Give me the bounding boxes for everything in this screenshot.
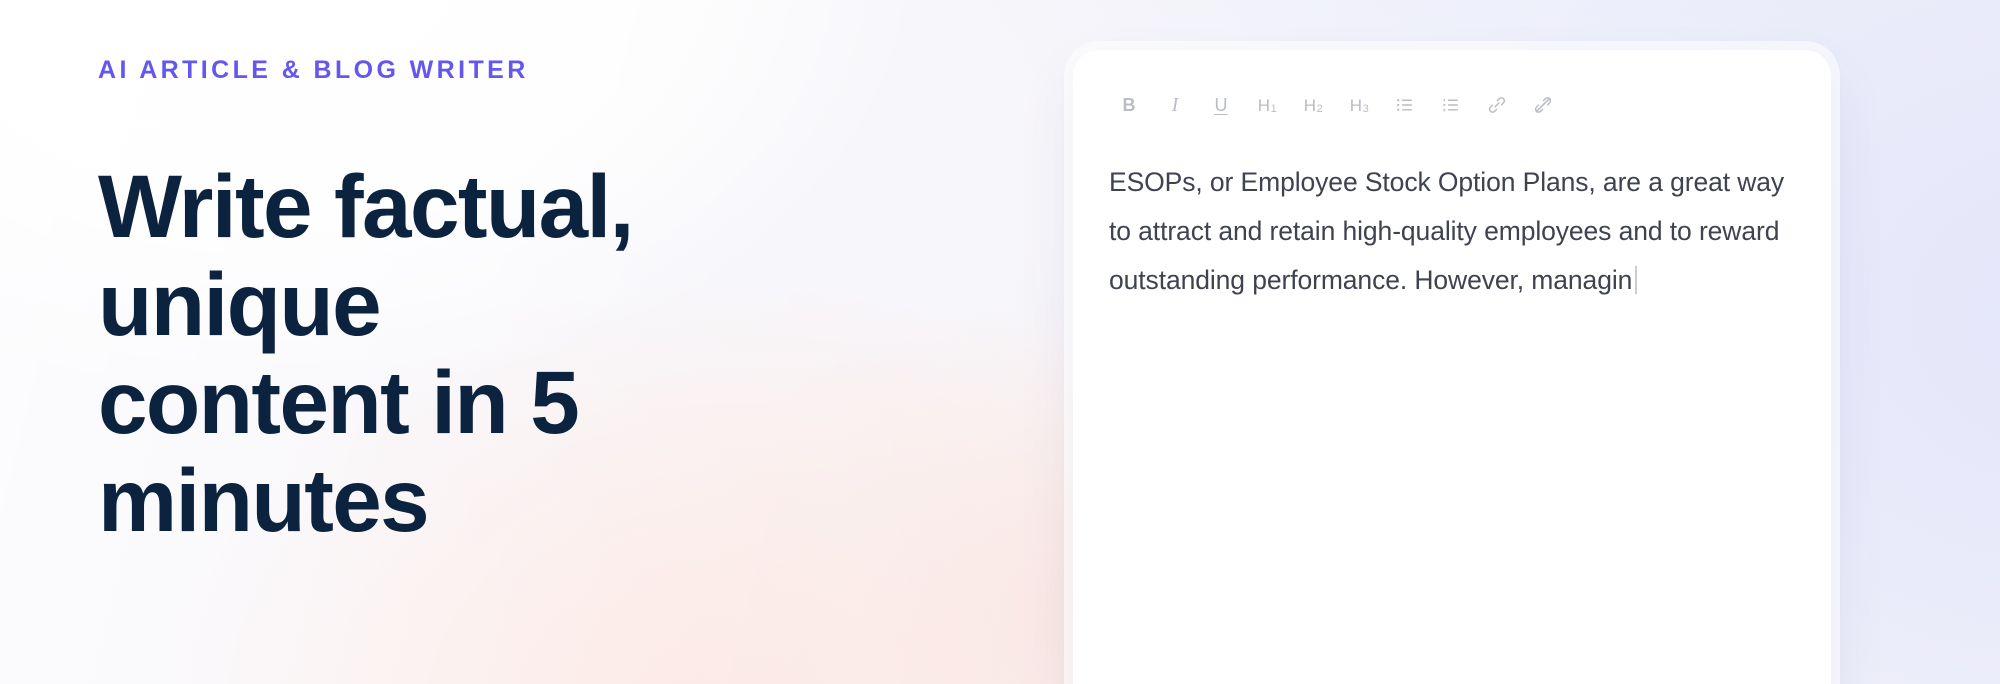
heading-1-button[interactable]: H1 — [1244, 88, 1290, 122]
editor-card: B I U H1 H2 H3 — [1073, 50, 1831, 684]
insert-link-button[interactable] — [1474, 88, 1520, 122]
ordered-list-button[interactable] — [1428, 88, 1474, 122]
unlink-icon — [1533, 95, 1553, 115]
heading-2-icon: H2 — [1304, 97, 1322, 114]
page-title: Write factual, unique content in 5 minut… — [98, 157, 818, 549]
remove-link-button[interactable] — [1520, 88, 1566, 122]
hero-eyebrow: AI ARTICLE & BLOG WRITER — [98, 56, 529, 85]
heading-2-button[interactable]: H2 — [1290, 88, 1336, 122]
headline-line-1: Write factual, — [98, 157, 818, 255]
underline-icon: U — [1215, 96, 1228, 114]
italic-button[interactable]: I — [1152, 88, 1198, 122]
editor-content-area[interactable]: ESOPs, or Employee Stock Option Plans, a… — [1109, 158, 1797, 305]
bullet-list-icon — [1395, 95, 1415, 115]
ordered-list-icon — [1441, 95, 1461, 115]
text-caret — [1635, 266, 1637, 294]
heading-3-icon: H3 — [1350, 97, 1368, 114]
editor-toolbar: B I U H1 H2 H3 — [1106, 88, 1566, 122]
headline-line-3: content in 5 — [98, 353, 818, 451]
italic-icon: I — [1172, 95, 1179, 115]
editor-text: ESOPs, or Employee Stock Option Plans, a… — [1109, 167, 1784, 295]
bold-icon: B — [1123, 96, 1136, 114]
heading-3-button[interactable]: H3 — [1336, 88, 1382, 122]
bullet-list-button[interactable] — [1382, 88, 1428, 122]
headline-line-4: minutes — [98, 451, 818, 549]
underline-button[interactable]: U — [1198, 88, 1244, 122]
heading-1-icon: H1 — [1258, 97, 1276, 114]
bold-button[interactable]: B — [1106, 88, 1152, 122]
link-icon — [1487, 95, 1507, 115]
headline-line-2: unique — [98, 255, 818, 353]
hero-copy-column: AI ARTICLE & BLOG WRITER Write factual, … — [98, 0, 838, 684]
